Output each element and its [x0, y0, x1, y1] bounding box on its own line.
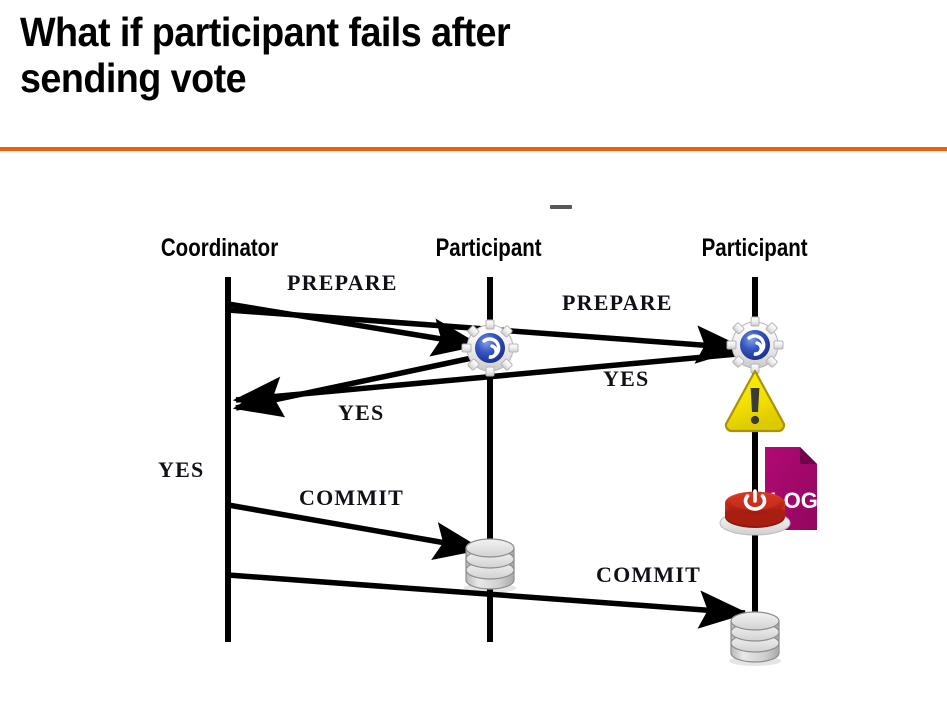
slide-canvas: What if participant fails after sending … [0, 0, 947, 706]
power-button-icon [720, 491, 790, 535]
warning-triangle-icon [726, 371, 784, 431]
page-title: What if participant fails after sending … [20, 10, 848, 102]
title-block: What if participant fails after sending … [20, 10, 920, 102]
sequence-diagram: Coordinator Participant Participant PREP… [0, 160, 947, 706]
database-icon-participant-2 [729, 612, 781, 666]
arrow-commit-to-participant-1 [228, 505, 480, 549]
diagram-graphics: LOG [0, 160, 947, 706]
title-divider-rule [0, 147, 947, 151]
database-icon-participant-1 [464, 539, 516, 593]
gear-icon-participant-1 [462, 320, 518, 376]
gear-icon-participant-2 [727, 317, 783, 373]
